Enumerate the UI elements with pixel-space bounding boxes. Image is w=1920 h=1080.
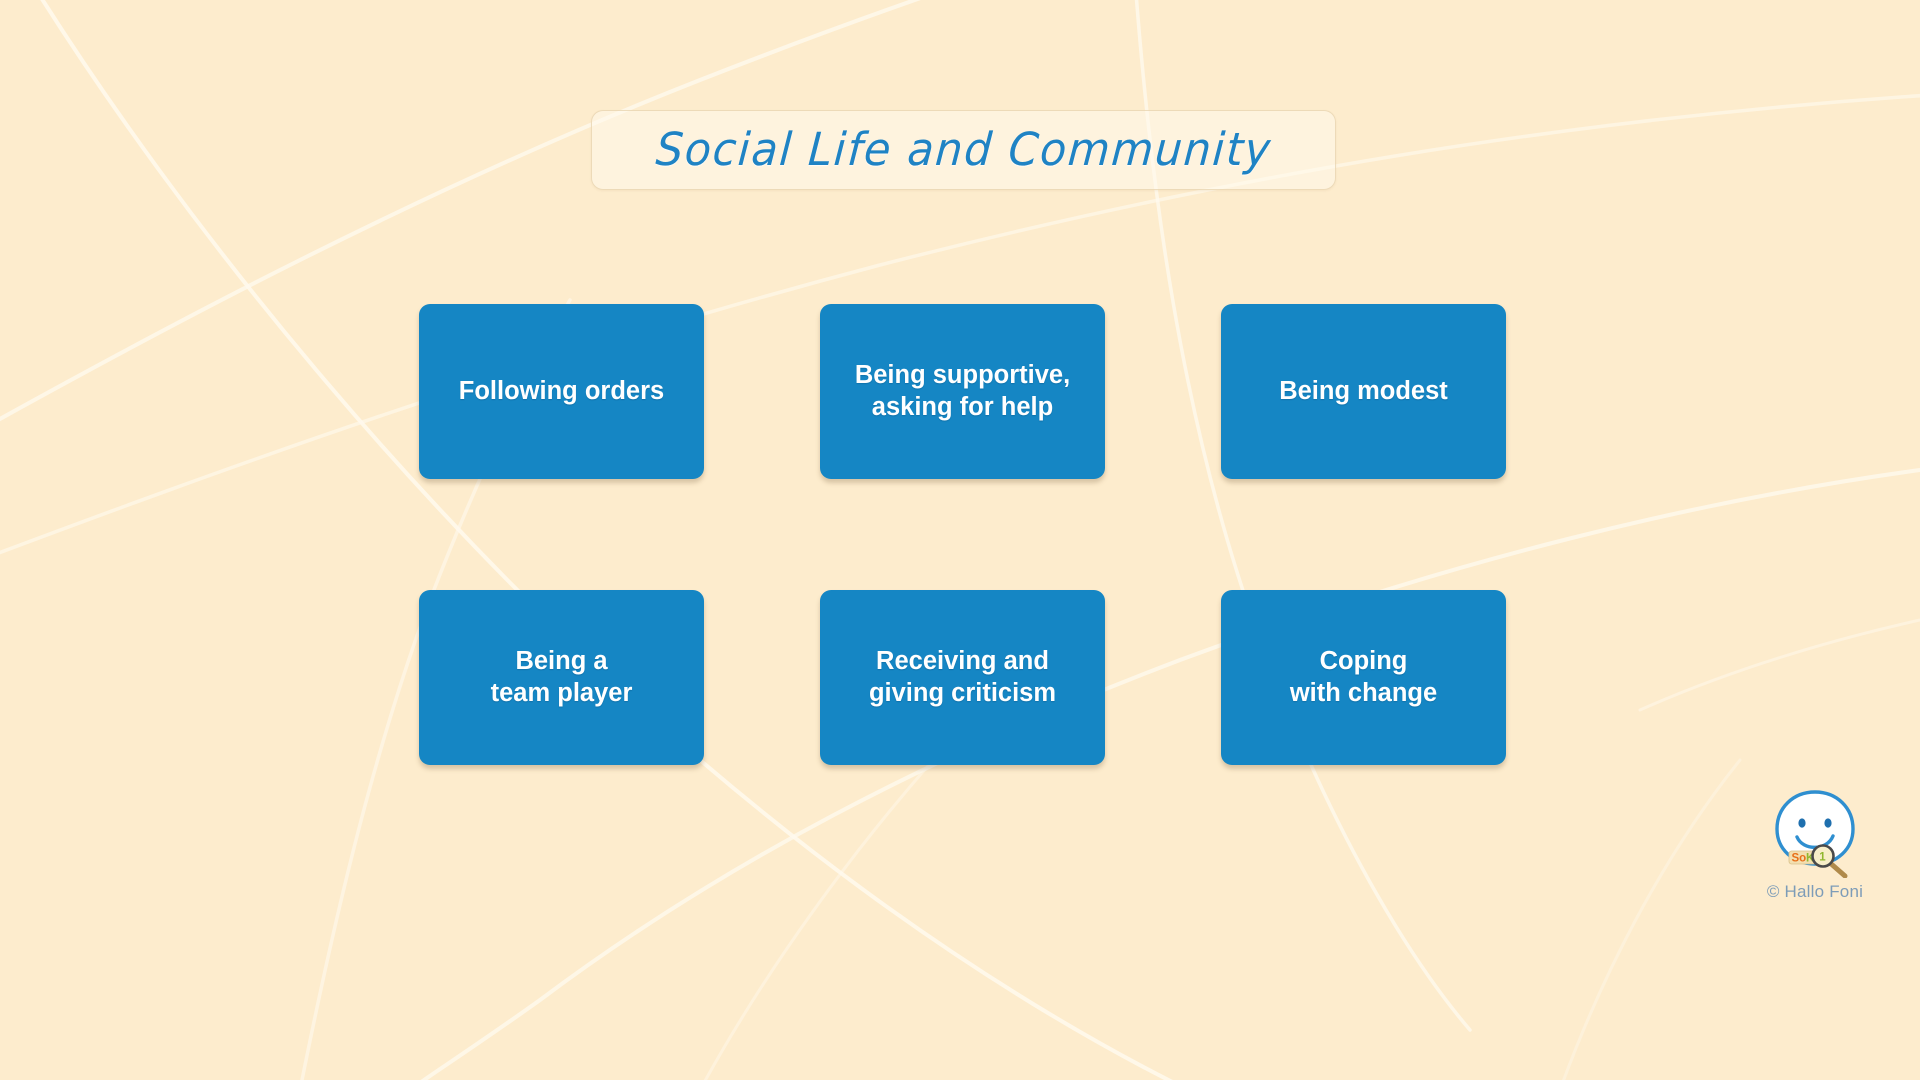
topic-card-criticism[interactable]: Receiving and giving criticism bbox=[820, 590, 1105, 765]
topic-card-grid: Following orders Being supportive, askin… bbox=[419, 304, 1506, 765]
topic-card-label: Following orders bbox=[459, 376, 664, 407]
smiley-magnifier-logo: So Ko 1 bbox=[1767, 786, 1863, 878]
topic-card-team-player[interactable]: Being a team player bbox=[419, 590, 704, 765]
slide-stage: Social Life and Community Following orde… bbox=[0, 0, 1920, 1080]
page-title-box: Social Life and Community bbox=[591, 110, 1336, 190]
topic-card-label: Being modest bbox=[1279, 376, 1448, 407]
topic-card-coping-with-change[interactable]: Coping with change bbox=[1221, 590, 1506, 765]
topic-card-label: Coping with change bbox=[1290, 646, 1437, 708]
topic-card-label: Being a team player bbox=[491, 646, 633, 708]
topic-card-being-modest[interactable]: Being modest bbox=[1221, 304, 1506, 479]
smiley-eye-left bbox=[1798, 818, 1805, 827]
topic-card-label: Receiving and giving criticism bbox=[869, 646, 1056, 708]
watermark: So Ko 1 © Hallo Foni bbox=[1740, 786, 1890, 902]
magnifier-number: 1 bbox=[1819, 852, 1826, 864]
page-title: Social Life and Community bbox=[654, 124, 1273, 177]
smiley-eye-right bbox=[1824, 818, 1831, 827]
topic-card-following-orders[interactable]: Following orders bbox=[419, 304, 704, 479]
topic-card-being-supportive[interactable]: Being supportive, asking for help bbox=[820, 304, 1105, 479]
soko-badge-text-so: So bbox=[1792, 852, 1807, 864]
topic-card-label: Being supportive, asking for help bbox=[855, 360, 1070, 422]
watermark-caption: © Hallo Foni bbox=[1767, 882, 1863, 902]
